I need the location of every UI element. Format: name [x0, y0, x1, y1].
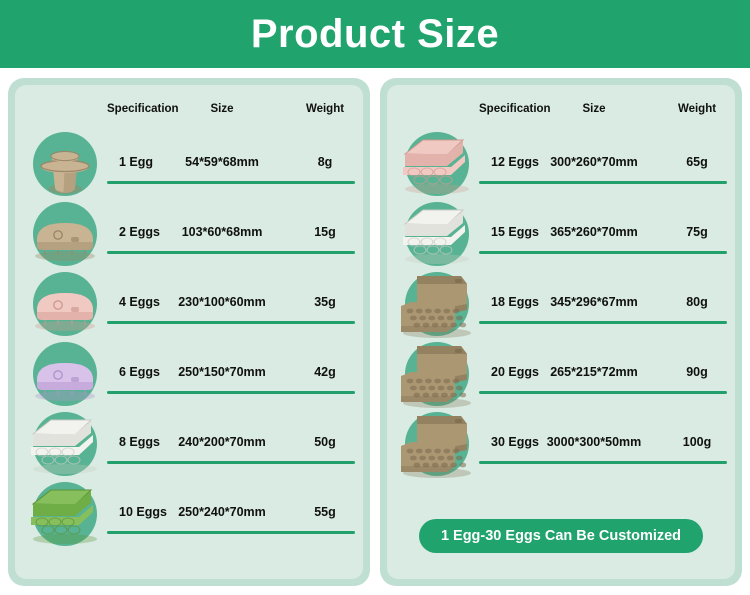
egg-cup-1-tan	[33, 132, 97, 196]
row-divider	[107, 461, 355, 464]
customization-cta-button[interactable]: 1 Egg-30 Eggs Can Be Customized	[419, 519, 703, 553]
cell-size: 300*260*70mm	[550, 155, 638, 169]
cell-weight: 8g	[318, 155, 333, 169]
product-size-page: Product Size Specification Size Weight 1…	[0, 0, 750, 595]
row-divider	[479, 321, 727, 324]
left-card-inner: Specification Size Weight 1 Egg54*59*68m…	[15, 85, 363, 579]
row-divider	[107, 531, 355, 534]
cell-specification: 4 Eggs	[119, 295, 160, 309]
cell-size: 230*100*60mm	[178, 295, 266, 309]
egg-tray-30-brown	[405, 412, 469, 476]
egg-carton-4-pink	[33, 272, 97, 336]
cell-weight: 35g	[314, 295, 336, 309]
row-divider	[107, 181, 355, 184]
cell-weight: 65g	[686, 155, 708, 169]
table-row: 6 Eggs250*150*70mm42g	[15, 339, 363, 409]
left-table-header: Specification Size Weight	[15, 103, 363, 121]
egg-carton-10-green	[33, 482, 97, 546]
cell-weight: 90g	[686, 365, 708, 379]
cell-size: 3000*300*50mm	[547, 435, 642, 449]
cell-specification: 12 Eggs	[491, 155, 539, 169]
row-divider	[479, 181, 727, 184]
column-header-specification: Specification	[479, 103, 551, 115]
cell-specification: 1 Egg	[119, 155, 153, 169]
table-row: 4 Eggs230*100*60mm35g	[15, 269, 363, 339]
cell-specification: 20 Eggs	[491, 365, 539, 379]
cell-weight: 50g	[314, 435, 336, 449]
column-header-size: Size	[582, 103, 605, 115]
size-tables: Specification Size Weight 1 Egg54*59*68m…	[0, 68, 750, 586]
cell-weight: 55g	[314, 505, 336, 519]
table-row: 12 Eggs300*260*70mm65g	[387, 129, 735, 199]
row-divider	[479, 391, 727, 394]
cell-size: 345*296*67mm	[550, 295, 638, 309]
table-row: 18 Eggs345*296*67mm80g	[387, 269, 735, 339]
column-header-weight: Weight	[306, 103, 344, 115]
page-header-banner: Product Size	[0, 0, 750, 68]
table-row: 1 Egg54*59*68mm8g	[15, 129, 363, 199]
cell-weight: 100g	[683, 435, 712, 449]
table-row: 10 Eggs250*240*70mm55g	[15, 479, 363, 549]
right-table-header: Specification Size Weight	[387, 103, 735, 121]
cell-size: 250*240*70mm	[178, 505, 266, 519]
row-divider	[107, 321, 355, 324]
table-row: 30 Eggs3000*300*50mm100g	[387, 409, 735, 479]
column-header-specification: Specification	[107, 103, 179, 115]
cell-specification: 18 Eggs	[491, 295, 539, 309]
cell-specification: 2 Eggs	[119, 225, 160, 239]
customization-cta-label: 1 Egg-30 Eggs Can Be Customized	[441, 528, 681, 544]
cell-specification: 10 Eggs	[119, 505, 167, 519]
table-row: 15 Eggs365*260*70mm75g	[387, 199, 735, 269]
column-header-size: Size	[210, 103, 233, 115]
cell-weight: 15g	[314, 225, 336, 239]
cell-size: 54*59*68mm	[185, 155, 259, 169]
table-row: 8 Eggs240*200*70mm50g	[15, 409, 363, 479]
egg-tray-20-brown	[405, 342, 469, 406]
right-card-inner: Specification Size Weight 12 Eggs300*260…	[387, 85, 735, 579]
cell-weight: 42g	[314, 365, 336, 379]
left-size-table-card: Specification Size Weight 1 Egg54*59*68m…	[8, 78, 370, 586]
egg-carton-15-white	[405, 202, 469, 266]
page-title: Product Size	[251, 14, 499, 54]
column-header-weight: Weight	[678, 103, 716, 115]
cell-size: 265*215*72mm	[550, 365, 638, 379]
row-divider	[479, 461, 727, 464]
row-divider	[107, 251, 355, 254]
cell-size: 103*60*68mm	[182, 225, 263, 239]
table-row: 2 Eggs103*60*68mm15g	[15, 199, 363, 269]
cell-size: 240*200*70mm	[178, 435, 266, 449]
cell-weight: 80g	[686, 295, 708, 309]
cell-specification: 30 Eggs	[491, 435, 539, 449]
cell-size: 365*260*70mm	[550, 225, 638, 239]
egg-carton-8-white	[33, 412, 97, 476]
cell-weight: 75g	[686, 225, 708, 239]
egg-carton-6-purple	[33, 342, 97, 406]
egg-carton-12-pink	[405, 132, 469, 196]
egg-carton-2-tan	[33, 202, 97, 266]
cell-specification: 6 Eggs	[119, 365, 160, 379]
cell-specification: 15 Eggs	[491, 225, 539, 239]
row-divider	[107, 391, 355, 394]
right-size-table-card: Specification Size Weight 12 Eggs300*260…	[380, 78, 742, 586]
egg-tray-18-brown	[405, 272, 469, 336]
cell-size: 250*150*70mm	[178, 365, 266, 379]
cell-specification: 8 Eggs	[119, 435, 160, 449]
row-divider	[479, 251, 727, 254]
table-row: 20 Eggs265*215*72mm90g	[387, 339, 735, 409]
